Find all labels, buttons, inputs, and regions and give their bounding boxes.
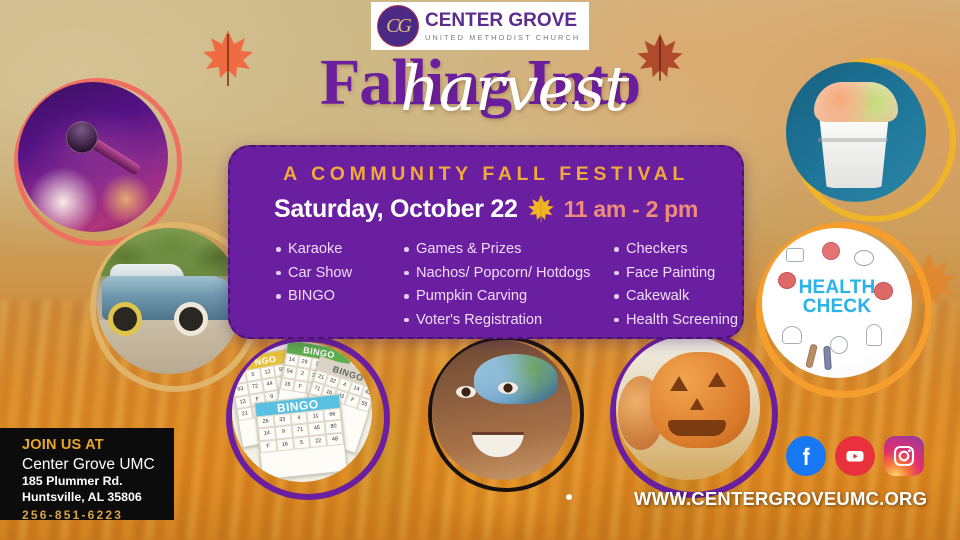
logo-monogram-text: CG bbox=[386, 16, 410, 36]
list-item: Cakewalk bbox=[612, 285, 762, 309]
stethoscope-doodle-icon bbox=[830, 336, 848, 354]
address-city-state-zip: Huntsville, AL 35806 bbox=[22, 490, 174, 506]
activities-column-3: Checkers Face Painting Cakewalk Health S… bbox=[612, 238, 762, 333]
maple-leaf-icon bbox=[200, 24, 256, 90]
church-logo: CG CENTER GROVE UNITED METHODIST CHURCH bbox=[371, 2, 589, 50]
youtube-icon[interactable] bbox=[835, 436, 875, 476]
list-item: Pumpkin Carving bbox=[402, 285, 612, 309]
panel-date: Saturday, October 22 bbox=[274, 195, 518, 224]
logo-text-block: CENTER GROVE UNITED METHODIST CHURCH bbox=[425, 11, 580, 42]
panel-date-row: Saturday, October 22 11 am - 2 pm bbox=[230, 192, 742, 226]
maple-leaf-icon bbox=[634, 28, 686, 88]
scale-doodle-icon bbox=[786, 248, 804, 262]
address-phone: 256-851-6223 bbox=[22, 508, 174, 522]
stopwatch-doodle-icon bbox=[822, 242, 840, 260]
list-item: Nachos/ Popcorn/ Hotdogs bbox=[402, 262, 612, 286]
list-item: Face Painting bbox=[612, 262, 762, 286]
facebook-icon[interactable] bbox=[786, 436, 826, 476]
address-street: 185 Plummer Rd. bbox=[22, 474, 174, 490]
activities-columns: Karaoke Car Show BINGO Games & Prizes Na… bbox=[230, 238, 742, 333]
address-kicker: JOIN US AT bbox=[22, 438, 174, 454]
instagram-icon[interactable] bbox=[884, 436, 924, 476]
panel-time: 11 am - 2 pm bbox=[564, 196, 698, 223]
list-item: Karaoke bbox=[274, 238, 402, 262]
pencil-doodle-icon bbox=[805, 344, 818, 369]
logo-subtitle: UNITED METHODIST CHURCH bbox=[425, 33, 580, 42]
social-links bbox=[786, 436, 924, 476]
list-item: BINGO bbox=[274, 285, 402, 309]
health-check-line1: HEALTH bbox=[762, 278, 912, 297]
person-doodle-icon bbox=[866, 324, 882, 346]
classic-car-show-photo bbox=[96, 228, 242, 374]
list-item: Car Show bbox=[274, 262, 402, 286]
address-block: JOIN US AT Center Grove UMC 185 Plummer … bbox=[0, 428, 174, 520]
logo-title: CENTER GROVE bbox=[425, 11, 580, 30]
list-item: Games & Prizes bbox=[402, 238, 612, 262]
karaoke-microphone-photo bbox=[18, 82, 168, 232]
health-check-label: HEALTH CHECK bbox=[762, 278, 912, 317]
panel-kicker: A COMMUNITY FALL FESTIVAL bbox=[230, 163, 742, 186]
face-painting-child-photo bbox=[432, 340, 572, 480]
activities-column-1: Karaoke Car Show BINGO bbox=[252, 238, 402, 333]
carved-pumpkin-photo bbox=[616, 336, 760, 480]
bullet-dot-icon bbox=[566, 494, 572, 500]
activities-column-2: Games & Prizes Nachos/ Popcorn/ Hotdogs … bbox=[402, 238, 612, 333]
fall-festival-flyer: CG CENTER GROVE UNITED METHODIST CHURCH … bbox=[0, 0, 960, 540]
bingo-card: BINGO 263341166149714580F1652248 bbox=[254, 394, 348, 481]
address-church-name: Center Grove UMC bbox=[22, 456, 174, 474]
list-item: Checkers bbox=[612, 238, 762, 262]
logo-monogram-icon: CG bbox=[377, 5, 419, 47]
gold-maple-leaf-icon bbox=[524, 192, 558, 226]
microphone-icon bbox=[63, 115, 143, 178]
list-item: Health Screening bbox=[612, 309, 762, 333]
tape-measure-doodle-icon bbox=[854, 250, 874, 266]
list-item: Voter's Registration bbox=[402, 309, 612, 333]
snow-cone-photo bbox=[786, 62, 926, 202]
kettlebell-doodle-icon bbox=[782, 326, 802, 344]
website-url[interactable]: WWW.CENTERGROVEUMC.ORG bbox=[634, 488, 927, 510]
bingo-cards-photo: NGO 3351250763724481213F94621855370 BING… bbox=[232, 342, 372, 482]
health-check-line2: CHECK bbox=[762, 297, 912, 316]
festival-info-panel: A COMMUNITY FALL FESTIVAL Saturday, Octo… bbox=[228, 145, 744, 339]
health-check-photo: HEALTH CHECK bbox=[762, 228, 912, 378]
